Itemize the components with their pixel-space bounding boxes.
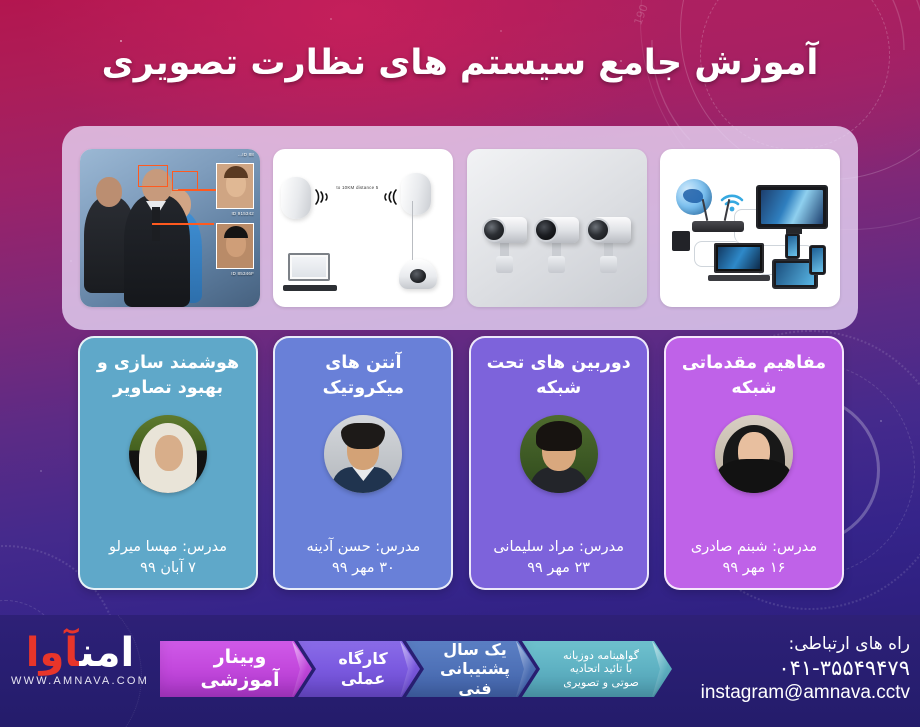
signal-waves-icon <box>381 185 399 209</box>
monitor-icon <box>756 185 828 229</box>
course-date: ۷ آبان ۹۹ <box>109 558 227 578</box>
poster-root: 190 200 210 220 آموزش جامع سیستم های نظا… <box>0 0 920 727</box>
ribbon-item-webinar[interactable]: وبینار آموزشی <box>160 641 312 697</box>
face-thumbnail <box>216 163 254 209</box>
course-card[interactable]: آنتن های میکروتیک مدرس: حسن آدینه ۳۰ مهر… <box>273 336 453 590</box>
course-date: ۲۳ مهر ۹۹ <box>493 558 624 578</box>
avatar <box>520 415 598 493</box>
course-card-list: مفاهیم مقدماتی شبکه مدرس: شبنم صادری ۱۶ … <box>78 336 844 590</box>
course-card-footer: مدرس: حسن آدینه ۳۰ مهر ۹۹ <box>306 538 420 578</box>
cctv-camera-icon <box>483 217 527 273</box>
ribbon-line-2: با تائید اتحادیه <box>563 662 639 675</box>
gallery-image-face-recognition: ID 88... ID 915342 ID 85346F <box>80 149 260 307</box>
cctv-camera-icon <box>535 217 579 273</box>
course-instructor: مدرس: شبنم صادری <box>691 538 817 558</box>
wifi-icon <box>719 190 745 212</box>
logo-website-url: WWW.AMNAVA.COM <box>4 675 156 687</box>
poster-title-bar: آموزش جامع سیستم های نظارت تصویری <box>0 42 920 85</box>
svg-text:190: 190 <box>631 3 650 27</box>
contact-phone[interactable]: ۰۴۱-۳۵۵۴۹۴۷۹ <box>701 655 910 681</box>
course-card[interactable]: مفاهیم مقدماتی شبکه مدرس: شبنم صادری ۱۶ … <box>664 336 844 590</box>
face-id-label: ID 85346F <box>231 271 254 276</box>
router-icon <box>692 221 744 232</box>
course-date: ۱۶ مهر ۹۹ <box>691 558 817 578</box>
antenna-dish-icon <box>401 173 431 215</box>
dome-camera-icon <box>399 259 437 289</box>
course-card-footer: مدرس: شبنم صادری ۱۶ مهر ۹۹ <box>691 538 817 578</box>
device-box-icon <box>672 231 690 251</box>
face-detect-box <box>138 165 168 187</box>
gallery-image-bullet-cameras <box>467 149 647 307</box>
contact-label: راه های ارتباطی: <box>701 633 910 655</box>
ribbon-line-1: گواهینامه دوزبانه <box>563 649 639 662</box>
distance-label: 5 to 10KM distance <box>336 185 378 190</box>
course-title: دوربین های تحت شبکه <box>479 351 639 405</box>
signal-waves-icon <box>313 185 331 209</box>
course-card[interactable]: هوشمند سازی و بهبود تصاویر مدرس: مهسا می… <box>78 336 258 590</box>
laptop-icon <box>283 253 337 291</box>
logo-wordmark: امنآوا <box>4 633 156 673</box>
avatar <box>715 415 793 493</box>
face-detect-box <box>172 171 198 191</box>
gallery-image-wireless-antennas: 5 to 10KM distance <box>273 149 453 307</box>
ribbon-item-support[interactable]: یک سال پشتیبانی فنی <box>406 641 536 697</box>
contact-block: راه های ارتباطی: ۰۴۱-۳۵۵۴۹۴۷۹ instagram@… <box>701 633 910 704</box>
footer-bar: امنآوا WWW.AMNAVA.COM گواهینامه دوزبانه … <box>0 615 920 727</box>
phone-icon <box>785 233 800 259</box>
globe-icon <box>676 179 712 215</box>
course-card-footer: مدرس: مراد سلیمانی ۲۳ مهر ۹۹ <box>493 538 624 578</box>
face-thumbnail <box>216 223 254 269</box>
logo-word-red: آوا <box>26 630 80 676</box>
course-title: هوشمند سازی و بهبود تصاویر <box>88 351 248 405</box>
antenna-dish-icon <box>281 177 311 219</box>
gallery-image-network-diagram <box>660 149 840 307</box>
ribbon-item-workshop[interactable]: کارگاه عملی <box>298 641 420 697</box>
laptop-icon <box>708 243 770 281</box>
avatar <box>129 415 207 493</box>
course-title: مفاهیم مقدماتی شبکه <box>674 351 834 405</box>
logo-word-white: امن <box>79 630 134 676</box>
course-instructor: مدرس: حسن آدینه <box>306 538 420 558</box>
page-title: آموزش جامع سیستم های نظارت تصویری <box>72 42 849 85</box>
feature-ribbon: گواهینامه دوزبانه با تائید اتحادیه صوتی … <box>160 641 658 697</box>
person-figure <box>124 195 190 307</box>
phone-icon <box>809 245 826 275</box>
course-date: ۳۰ مهر ۹۹ <box>306 558 420 578</box>
cctv-camera-icon <box>587 217 631 273</box>
course-card[interactable]: دوربین های تحت شبکه مدرس: مراد سلیمانی ۲… <box>469 336 649 590</box>
course-card-footer: مدرس: مهسا میرلو ۷ آبان ۹۹ <box>109 538 227 578</box>
course-title: آنتن های میکروتیک <box>283 351 443 405</box>
face-id-label: ID 88... <box>238 152 254 157</box>
brand-logo[interactable]: امنآوا WWW.AMNAVA.COM <box>4 633 156 687</box>
ribbon-line-1: یک سال <box>443 640 507 659</box>
course-instructor: مدرس: مهسا میرلو <box>109 538 227 558</box>
course-instructor: مدرس: مراد سلیمانی <box>493 538 624 558</box>
contact-instagram[interactable]: instagram@amnava.cctv <box>701 682 910 704</box>
face-id-label: ID 915342 <box>231 211 254 216</box>
image-gallery-panel: 5 to 10KM distance ID 88... <box>62 126 858 330</box>
ribbon-line-2: پشتیبانی فنی <box>440 659 510 698</box>
ribbon-line-3: صوتی و تصویری <box>563 676 639 689</box>
ribbon-item-certificate[interactable]: گواهینامه دوزبانه با تائید اتحادیه صوتی … <box>522 641 672 697</box>
avatar <box>324 415 402 493</box>
